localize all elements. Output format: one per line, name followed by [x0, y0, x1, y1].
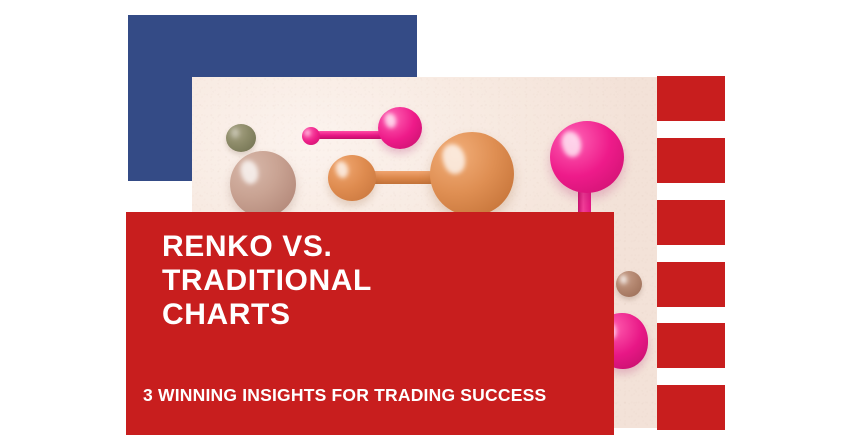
red-bar-5 — [657, 323, 725, 368]
nude-droplet — [230, 151, 296, 217]
red-bar-stripes — [657, 76, 725, 430]
red-text-panel: RENKO VS. TRADITIONAL CHARTS 3 WINNING I… — [126, 212, 614, 435]
red-bar-6 — [657, 385, 725, 430]
orange-large-droplet — [430, 132, 514, 216]
red-bar-2 — [657, 138, 725, 183]
brown-low-droplet — [616, 271, 642, 297]
banner-canvas: RENKO VS. TRADITIONAL CHARTS 3 WINNING I… — [0, 0, 850, 445]
pink-mid-droplet — [378, 107, 422, 149]
magenta-large-droplet — [550, 121, 624, 193]
red-bar-3 — [657, 200, 725, 245]
pink-small-droplet — [302, 127, 320, 145]
orange-small-droplet — [328, 155, 376, 201]
banner-title: RENKO VS. TRADITIONAL CHARTS — [162, 230, 582, 332]
pink-droplet-stem — [316, 131, 384, 139]
red-bar-1 — [657, 76, 725, 121]
red-bar-4 — [657, 262, 725, 307]
olive-droplet — [226, 124, 256, 152]
banner-subtitle: 3 WINNING INSIGHTS FOR TRADING SUCCESS — [143, 385, 546, 405]
